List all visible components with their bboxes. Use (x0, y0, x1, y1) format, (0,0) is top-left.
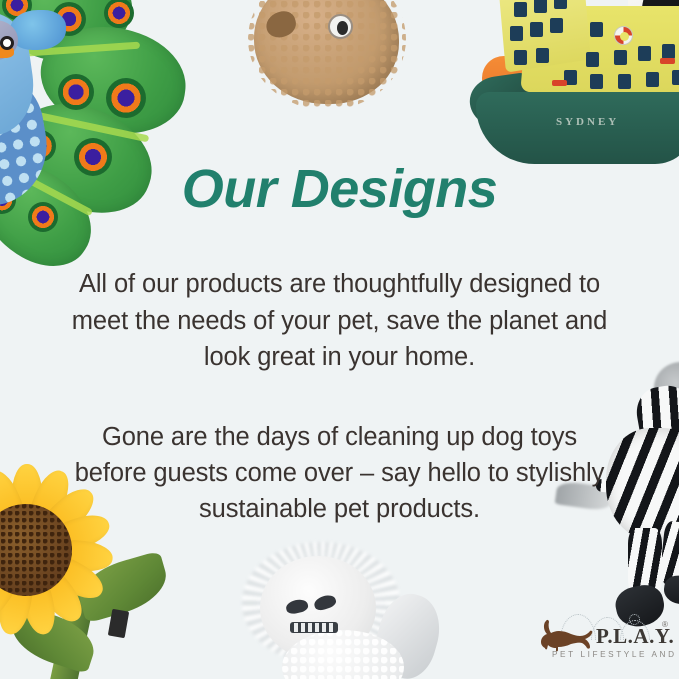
logo-tagline: PET LIFESTYLE AND YOU (552, 650, 679, 659)
peacock-crest (10, 10, 66, 50)
yeti-plush-toy (228, 538, 428, 679)
poster-copy: Our Designs All of our products are thou… (0, 160, 679, 528)
peacock-eye-spot (106, 78, 146, 118)
product-lifestyle-poster: SYDNEY (0, 0, 679, 679)
yeti-teeth (294, 623, 334, 632)
moose-plush-toy (248, 0, 423, 107)
registered-trademark-icon: ® (662, 620, 668, 629)
paragraph-2: Gone are the days of cleaning up dog toy… (70, 419, 610, 528)
peacock-eye (0, 36, 14, 50)
peacock-eye-spot (104, 0, 134, 28)
paragraph-1: All of our products are thoughtfully des… (70, 266, 610, 375)
dog-silhouette-icon (536, 618, 594, 652)
boat-name-label: SYDNEY (556, 116, 619, 128)
play-brand-logo: P.L.A.Y. ® PET LIFESTYLE AND YOU (536, 606, 672, 674)
peacock-eye-spot (58, 74, 94, 110)
boat-hull (476, 92, 679, 164)
ferry-boat-plush-toy: SYDNEY (468, 0, 679, 164)
page-title: Our Designs (0, 160, 679, 219)
boat-life-ring (614, 26, 633, 45)
moose-eye (328, 14, 353, 39)
